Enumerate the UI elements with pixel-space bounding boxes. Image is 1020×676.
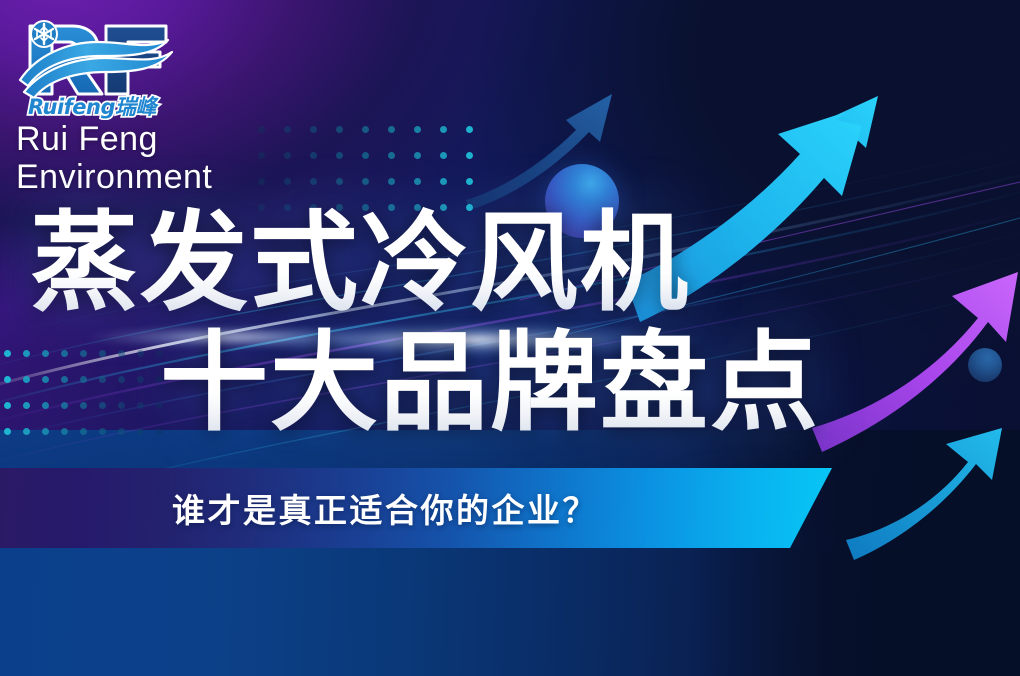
dot <box>466 178 473 185</box>
snowflake-icon <box>31 21 57 47</box>
dot <box>414 178 421 185</box>
dot <box>284 204 291 211</box>
dot <box>310 178 317 185</box>
dot <box>42 428 49 435</box>
dot <box>362 178 369 185</box>
logo-wordmark: Ruifeng瑞峰 <box>28 95 160 119</box>
brand-name-english: Rui Feng Environment <box>16 120 212 196</box>
dot <box>466 152 473 159</box>
subtitle-text: 谁才是真正适合你的企业？ <box>0 468 832 548</box>
dot <box>310 126 317 133</box>
dot <box>42 376 49 383</box>
dot <box>61 350 68 357</box>
dot <box>284 178 291 185</box>
arrow-cyan-lower <box>846 428 1002 560</box>
dot <box>388 126 395 133</box>
poster-canvas: Ruifeng瑞峰 Rui Feng Environment 蒸发式冷风机 十大… <box>0 0 1020 676</box>
dot <box>284 152 291 159</box>
dot <box>156 350 163 357</box>
dot <box>156 402 163 409</box>
dot <box>388 204 395 211</box>
sphere-large-decoration <box>545 164 619 238</box>
sphere-small-decoration <box>968 348 1002 382</box>
dot <box>118 402 125 409</box>
brand-name-line1: Rui Feng <box>16 120 158 158</box>
dot <box>258 204 265 211</box>
dot <box>362 126 369 133</box>
dot <box>336 126 343 133</box>
dot <box>61 376 68 383</box>
dot <box>440 204 447 211</box>
dot <box>284 126 291 133</box>
dot <box>440 178 447 185</box>
dot <box>440 126 447 133</box>
dot <box>336 178 343 185</box>
dot <box>118 376 125 383</box>
dot <box>414 152 421 159</box>
dot <box>4 350 11 357</box>
dot <box>99 350 106 357</box>
dot <box>137 376 144 383</box>
dot <box>362 152 369 159</box>
dot <box>414 126 421 133</box>
dot <box>42 350 49 357</box>
dot <box>42 402 49 409</box>
dot <box>80 428 87 435</box>
dot <box>137 402 144 409</box>
company-logo: Ruifeng瑞峰 <box>14 8 194 120</box>
dot <box>310 152 317 159</box>
dot <box>388 152 395 159</box>
dot <box>137 428 144 435</box>
dot <box>310 204 317 211</box>
dot <box>258 178 265 185</box>
dot <box>61 428 68 435</box>
dot <box>80 402 87 409</box>
dot <box>118 428 125 435</box>
dot <box>156 376 163 383</box>
dot <box>4 428 11 435</box>
dot <box>99 402 106 409</box>
svg-text:Ruifeng瑞峰: Ruifeng瑞峰 <box>28 95 160 119</box>
dot <box>336 152 343 159</box>
dot-grid-left <box>4 350 175 454</box>
dot <box>388 178 395 185</box>
dot <box>258 126 265 133</box>
dot <box>4 376 11 383</box>
dot <box>80 350 87 357</box>
dot <box>156 428 163 435</box>
dot <box>23 376 30 383</box>
dot <box>118 350 125 357</box>
dot <box>23 350 30 357</box>
dot <box>4 402 11 409</box>
brand-name-line2: Environment <box>16 158 212 196</box>
dot <box>23 428 30 435</box>
dot <box>61 402 68 409</box>
dot <box>99 428 106 435</box>
dot <box>440 152 447 159</box>
dot <box>466 126 473 133</box>
dot <box>414 204 421 211</box>
dot <box>258 152 265 159</box>
dot <box>137 350 144 357</box>
dot <box>23 402 30 409</box>
dot <box>466 204 473 211</box>
dot-grid-top <box>258 126 492 230</box>
dot <box>99 376 106 383</box>
dot <box>336 204 343 211</box>
dot <box>362 204 369 211</box>
dot <box>80 376 87 383</box>
